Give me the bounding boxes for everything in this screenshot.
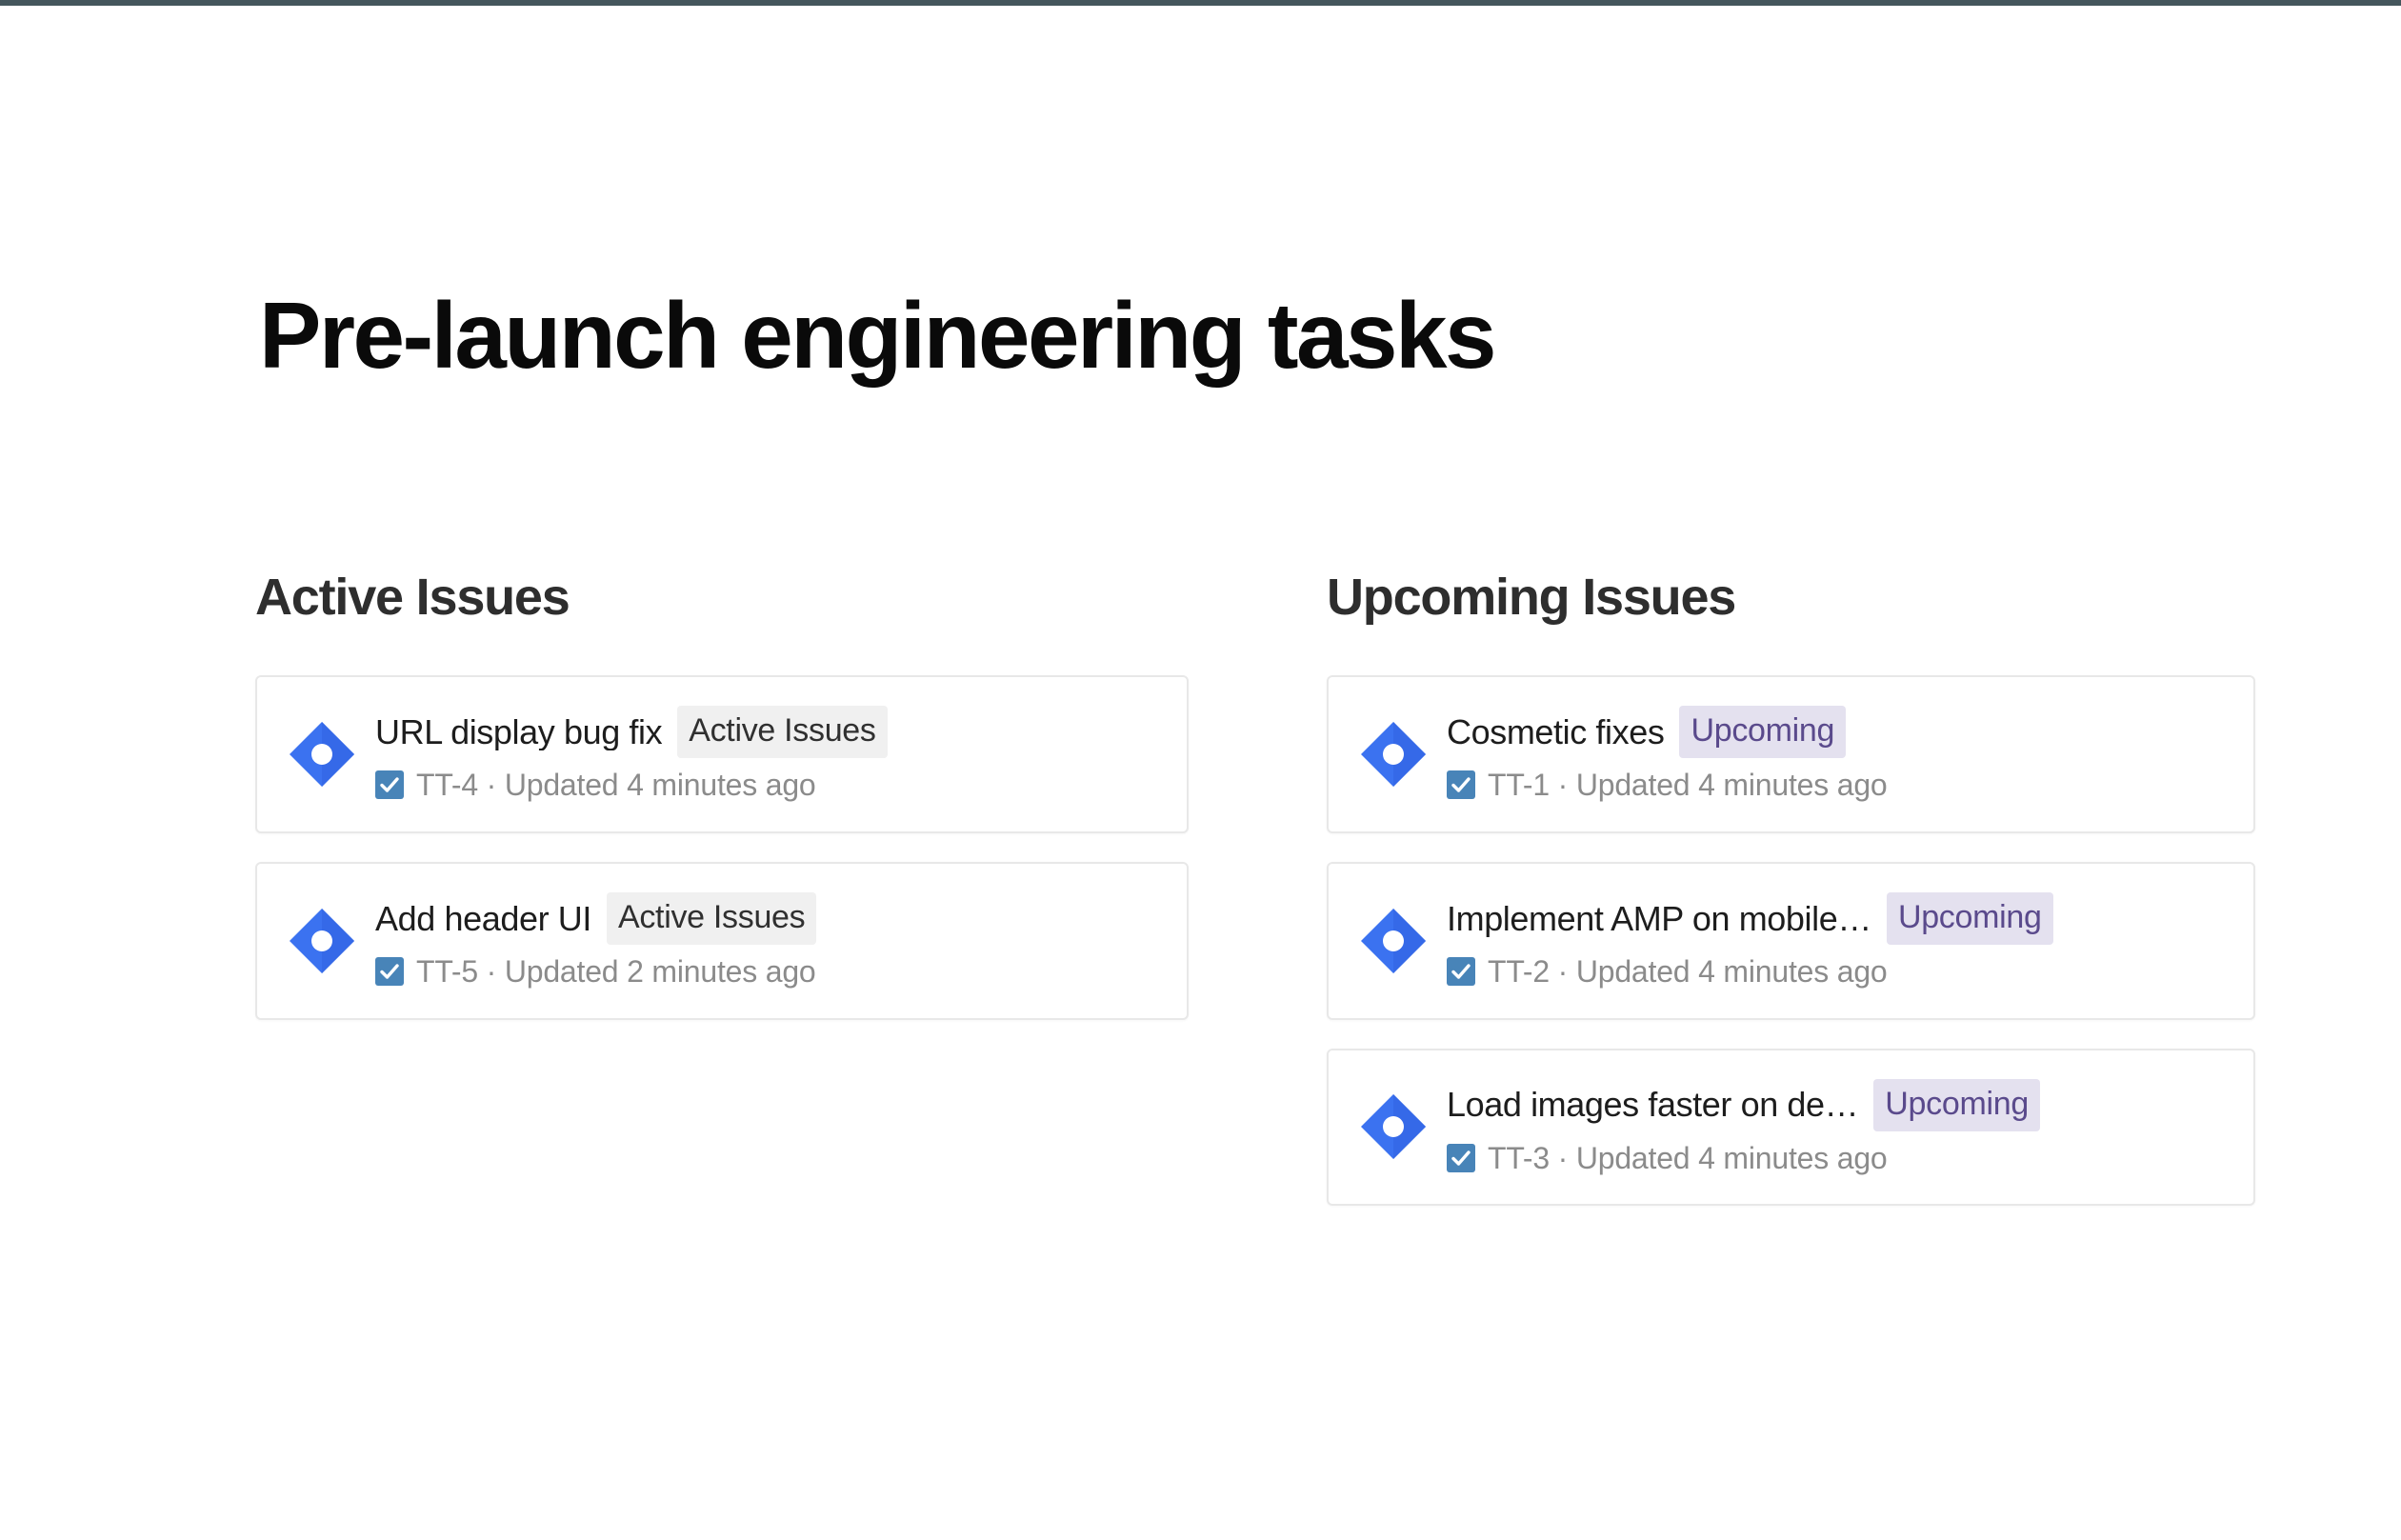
jira-diamond-icon: [1357, 1090, 1430, 1163]
issue-card-body: Add header UI Active Issues TT-5 · Updat…: [375, 892, 1160, 990]
status-badge: Active Issues: [677, 706, 887, 758]
issue-meta: TT-3 · Updated 4 minutes ago: [1447, 1141, 2227, 1176]
issue-meta-text: TT-3 · Updated 4 minutes ago: [1488, 1141, 1888, 1176]
page-root: Pre-launch engineering tasks Active Issu…: [0, 0, 2401, 1540]
status-badge: Upcoming: [1887, 892, 2053, 945]
card-list-upcoming-issues: Cosmetic fixes Upcoming TT-1 · Updated 4…: [1327, 675, 2255, 1206]
page-content: Pre-launch engineering tasks Active Issu…: [0, 0, 2401, 1540]
issue-card-body: Implement AMP on mobile… Upcoming TT-2 ·…: [1447, 892, 2227, 990]
checkbox-checked-icon: [375, 770, 404, 799]
issue-meta: TT-5 · Updated 2 minutes ago: [375, 954, 1160, 990]
issue-card[interactable]: Implement AMP on mobile… Upcoming TT-2 ·…: [1327, 862, 2255, 1020]
jira-diamond-icon: [286, 718, 358, 790]
column-heading-active-issues: Active Issues: [255, 571, 1189, 623]
checkbox-checked-icon: [1447, 1144, 1475, 1172]
issue-title-row: Load images faster on de… Upcoming: [1447, 1079, 2227, 1131]
issue-meta: TT-2 · Updated 4 minutes ago: [1447, 954, 2227, 990]
issue-title: URL display bug fix: [375, 713, 662, 751]
issue-card[interactable]: Load images faster on de… Upcoming TT-3 …: [1327, 1049, 2255, 1207]
checkbox-checked-icon: [1447, 770, 1475, 799]
jira-diamond-icon: [286, 905, 358, 977]
issue-meta-text: TT-2 · Updated 4 minutes ago: [1488, 954, 1888, 990]
issue-title: Cosmetic fixes: [1447, 713, 1664, 751]
issue-title-row: URL display bug fix Active Issues: [375, 706, 1160, 758]
column-upcoming-issues: Upcoming Issues Cosmetic fi: [1327, 571, 2255, 1206]
issue-meta-text: TT-1 · Updated 4 minutes ago: [1488, 768, 1888, 803]
page-title: Pre-launch engineering tasks: [259, 286, 1494, 387]
issue-title: Load images faster on de…: [1447, 1086, 1858, 1124]
issue-meta-text: TT-5 · Updated 2 minutes ago: [416, 954, 816, 990]
issue-title-row: Add header UI Active Issues: [375, 892, 1160, 945]
checkbox-checked-icon: [375, 957, 404, 986]
issue-meta: TT-1 · Updated 4 minutes ago: [1447, 768, 2227, 803]
issue-card-body: Cosmetic fixes Upcoming TT-1 · Updated 4…: [1447, 706, 2227, 803]
issue-title-row: Cosmetic fixes Upcoming: [1447, 706, 2227, 758]
issue-card[interactable]: Cosmetic fixes Upcoming TT-1 · Updated 4…: [1327, 675, 2255, 833]
issue-meta-text: TT-4 · Updated 4 minutes ago: [416, 768, 816, 803]
column-active-issues: Active Issues URL display b: [255, 571, 1189, 1020]
jira-diamond-icon: [1357, 718, 1430, 790]
issue-card-body: URL display bug fix Active Issues TT-4 ·…: [375, 706, 1160, 803]
status-badge: Upcoming: [1679, 706, 1846, 758]
issue-meta: TT-4 · Updated 4 minutes ago: [375, 768, 1160, 803]
issue-title: Add header UI: [375, 900, 591, 938]
issue-card[interactable]: URL display bug fix Active Issues TT-4 ·…: [255, 675, 1189, 833]
issue-title-row: Implement AMP on mobile… Upcoming: [1447, 892, 2227, 945]
issue-title: Implement AMP on mobile…: [1447, 900, 1871, 938]
issue-card-body: Load images faster on de… Upcoming TT-3 …: [1447, 1079, 2227, 1176]
checkbox-checked-icon: [1447, 957, 1475, 986]
status-badge: Active Issues: [607, 892, 816, 945]
status-badge: Upcoming: [1873, 1079, 2040, 1131]
issue-card[interactable]: Add header UI Active Issues TT-5 · Updat…: [255, 862, 1189, 1020]
column-heading-upcoming-issues: Upcoming Issues: [1327, 571, 2255, 623]
card-list-active-issues: URL display bug fix Active Issues TT-4 ·…: [255, 675, 1189, 1020]
jira-diamond-icon: [1357, 905, 1430, 977]
